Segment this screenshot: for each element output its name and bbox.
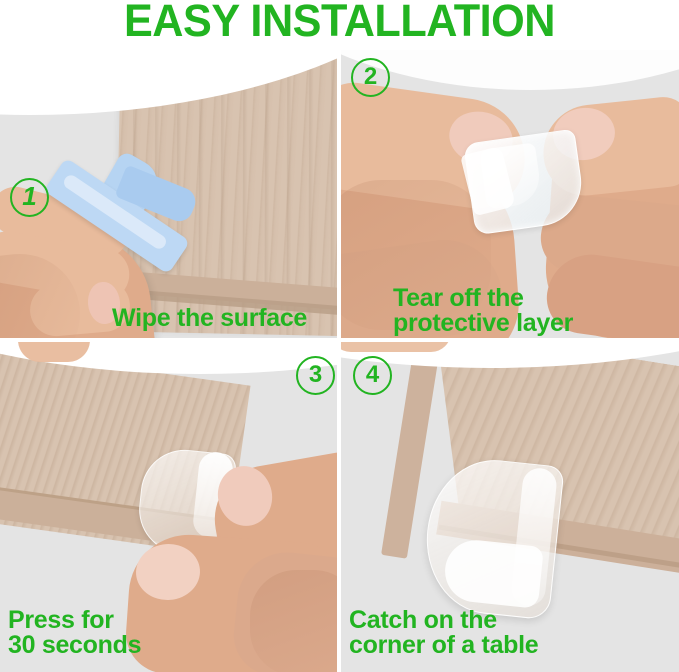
step-panel-3: 3 Press for 30 seconds: [0, 342, 337, 672]
white-swoosh-2: [341, 50, 679, 90]
step-3-photo: 3 Press for 30 seconds: [0, 342, 337, 672]
step-badge-1-label: 1: [22, 181, 36, 211]
hand-shading-3: [250, 570, 337, 672]
step-1-photo: 1 Wipe the surface: [0, 50, 337, 338]
vertical-gutter: [337, 50, 341, 672]
finger-top-sliver-4: [341, 342, 451, 352]
step-caption-3: Press for 30 seconds: [8, 608, 141, 658]
step-4-photo: 4 Catch on the corner of a table: [341, 342, 679, 672]
page-title: EASY INSTALLATION: [14, 0, 666, 46]
step-caption-2: Tear off the protective layer: [393, 286, 573, 336]
step-panel-1: 1 Wipe the surface: [0, 50, 337, 338]
infographic-root: EASY INSTALLATION: [0, 0, 679, 672]
step-panel-4: 4 Catch on the corner of a table: [341, 342, 679, 672]
step-badge-4-label: 4: [366, 361, 379, 388]
step-caption-1: Wipe the surface: [112, 305, 307, 331]
step-badge-1: 1: [10, 178, 49, 217]
step-badge-3: 3: [296, 356, 335, 395]
step-badge-3-label: 3: [309, 361, 322, 388]
step-caption-4: Catch on the corner of a table: [349, 608, 538, 658]
horizontal-gutter: [0, 338, 679, 342]
step-badge-4: 4: [353, 356, 392, 395]
step-badge-2: 2: [351, 58, 390, 97]
step-panel-2: 2 Tear off the protective layer: [341, 50, 679, 338]
step-badge-2-label: 2: [364, 63, 377, 90]
step-2-photo: 2 Tear off the protective layer: [341, 50, 679, 338]
